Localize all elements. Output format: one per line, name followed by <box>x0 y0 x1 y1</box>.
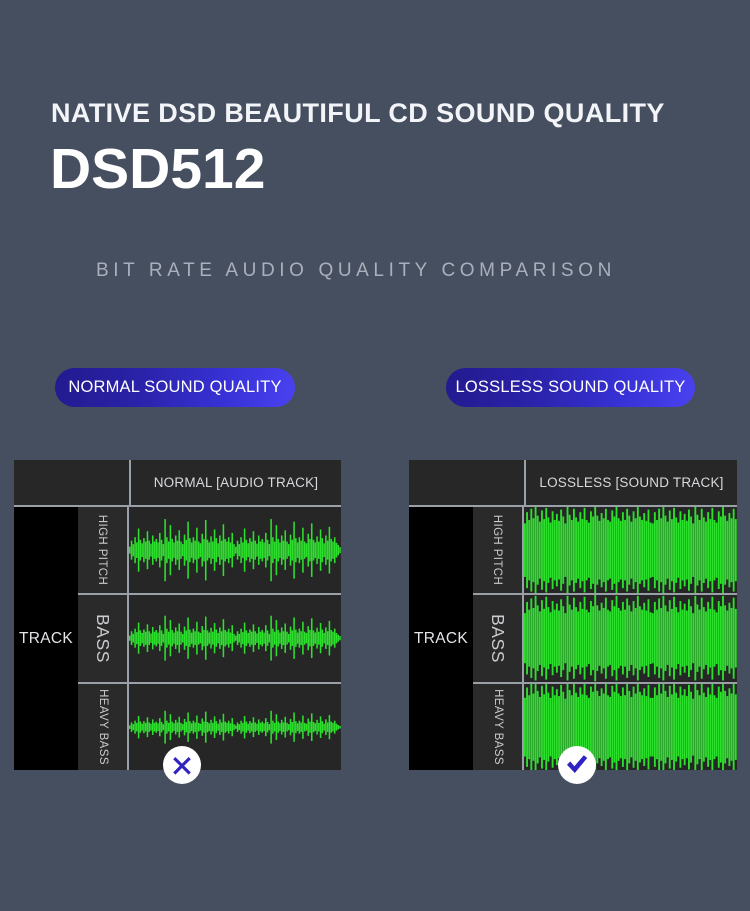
row-label-bass: BASS <box>78 595 129 681</box>
table-row: BASS <box>473 595 737 683</box>
row-label-high-pitch: HIGH PITCH <box>473 507 524 593</box>
promo-page: NATIVE DSD BEAUTIFUL CD SOUND QUALITY DS… <box>0 0 750 911</box>
section-subtitle: BIT RATE AUDIO QUALITY COMPARISON <box>96 260 616 282</box>
table-row: BASS <box>78 595 341 683</box>
header-title-normal: NORMAL [AUDIO TRACK] <box>131 460 341 505</box>
page-headline: NATIVE DSD BEAUTIFUL CD SOUND QUALITY <box>51 98 665 129</box>
verdict-badge-lossless <box>558 746 596 784</box>
waveform-normal-heavy-bass <box>129 684 341 770</box>
header-blank-cell <box>14 460 131 505</box>
row-label-bass: BASS <box>473 595 524 681</box>
row-label-text: HEAVY BASS <box>97 689 109 765</box>
page-title: DSD512 <box>50 140 265 200</box>
badge-normal-sound-quality: NORMAL SOUND QUALITY <box>55 368 295 407</box>
header-blank-cell <box>409 460 526 505</box>
track-label-lossless: TRACK <box>409 507 473 770</box>
waveform-normal-bass <box>129 595 341 681</box>
table-row: HEAVY BASS <box>473 684 737 770</box>
header-title-lossless: LOSSLESS [SOUND TRACK] <box>526 460 737 505</box>
comparison-table-normal: NORMAL [AUDIO TRACK] TRACK HIGH PITCH <box>14 460 341 770</box>
table-row: HEAVY BASS <box>78 684 341 770</box>
row-label-text: HIGH PITCH <box>97 515 109 585</box>
table-row: HIGH PITCH <box>78 507 341 595</box>
row-label-heavy-bass: HEAVY BASS <box>473 684 524 770</box>
comparison-table-lossless: LOSSLESS [SOUND TRACK] TRACK HIGH PITCH <box>409 460 737 770</box>
badge-lossless-sound-quality: LOSSLESS SOUND QUALITY <box>446 368 695 407</box>
verdict-badge-normal <box>163 746 201 784</box>
row-label-high-pitch: HIGH PITCH <box>78 507 129 593</box>
row-label-text: HEAVY BASS <box>492 689 504 765</box>
table-header-normal: NORMAL [AUDIO TRACK] <box>14 460 341 505</box>
row-label-text: BASS <box>92 614 113 663</box>
waveform-lossless-bass <box>524 595 737 681</box>
table-body-normal: TRACK HIGH PITCH <box>14 507 341 770</box>
row-label-text: BASS <box>487 614 508 663</box>
waveform-lossless-heavy-bass <box>524 684 737 770</box>
table-row: HIGH PITCH <box>473 507 737 595</box>
cross-icon <box>170 753 194 777</box>
track-label-normal: TRACK <box>14 507 78 770</box>
check-icon <box>564 752 590 778</box>
table-header-lossless: LOSSLESS [SOUND TRACK] <box>409 460 737 505</box>
table-body-lossless: TRACK HIGH PITCH <box>409 507 737 770</box>
row-label-heavy-bass: HEAVY BASS <box>78 684 129 770</box>
waveform-normal-high-pitch <box>129 507 341 593</box>
row-label-text: HIGH PITCH <box>492 515 504 585</box>
waveform-lossless-high-pitch <box>524 507 737 593</box>
